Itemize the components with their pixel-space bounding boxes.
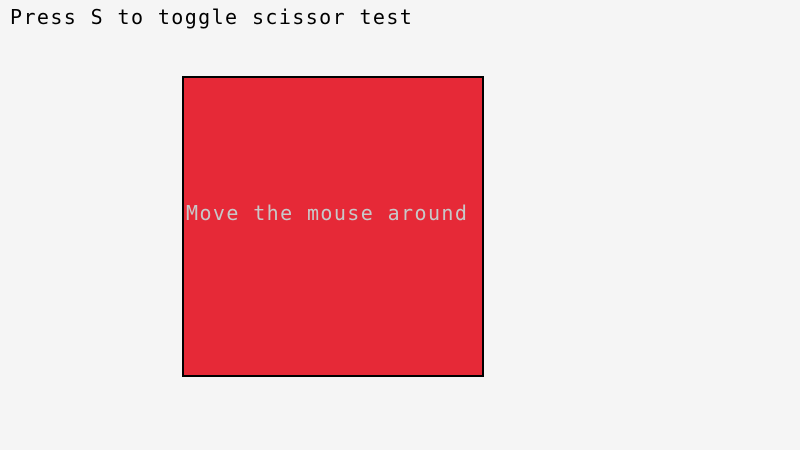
scissor-rectangle[interactable]: Move the mouse around to reveal the text: [182, 76, 484, 377]
toggle-scissor-hint-label: Press S to toggle scissor test: [10, 5, 413, 29]
clipped-message-label: Move the mouse around to reveal the text: [186, 201, 484, 225]
app-window: Press S to toggle scissor test Move the …: [0, 0, 800, 450]
